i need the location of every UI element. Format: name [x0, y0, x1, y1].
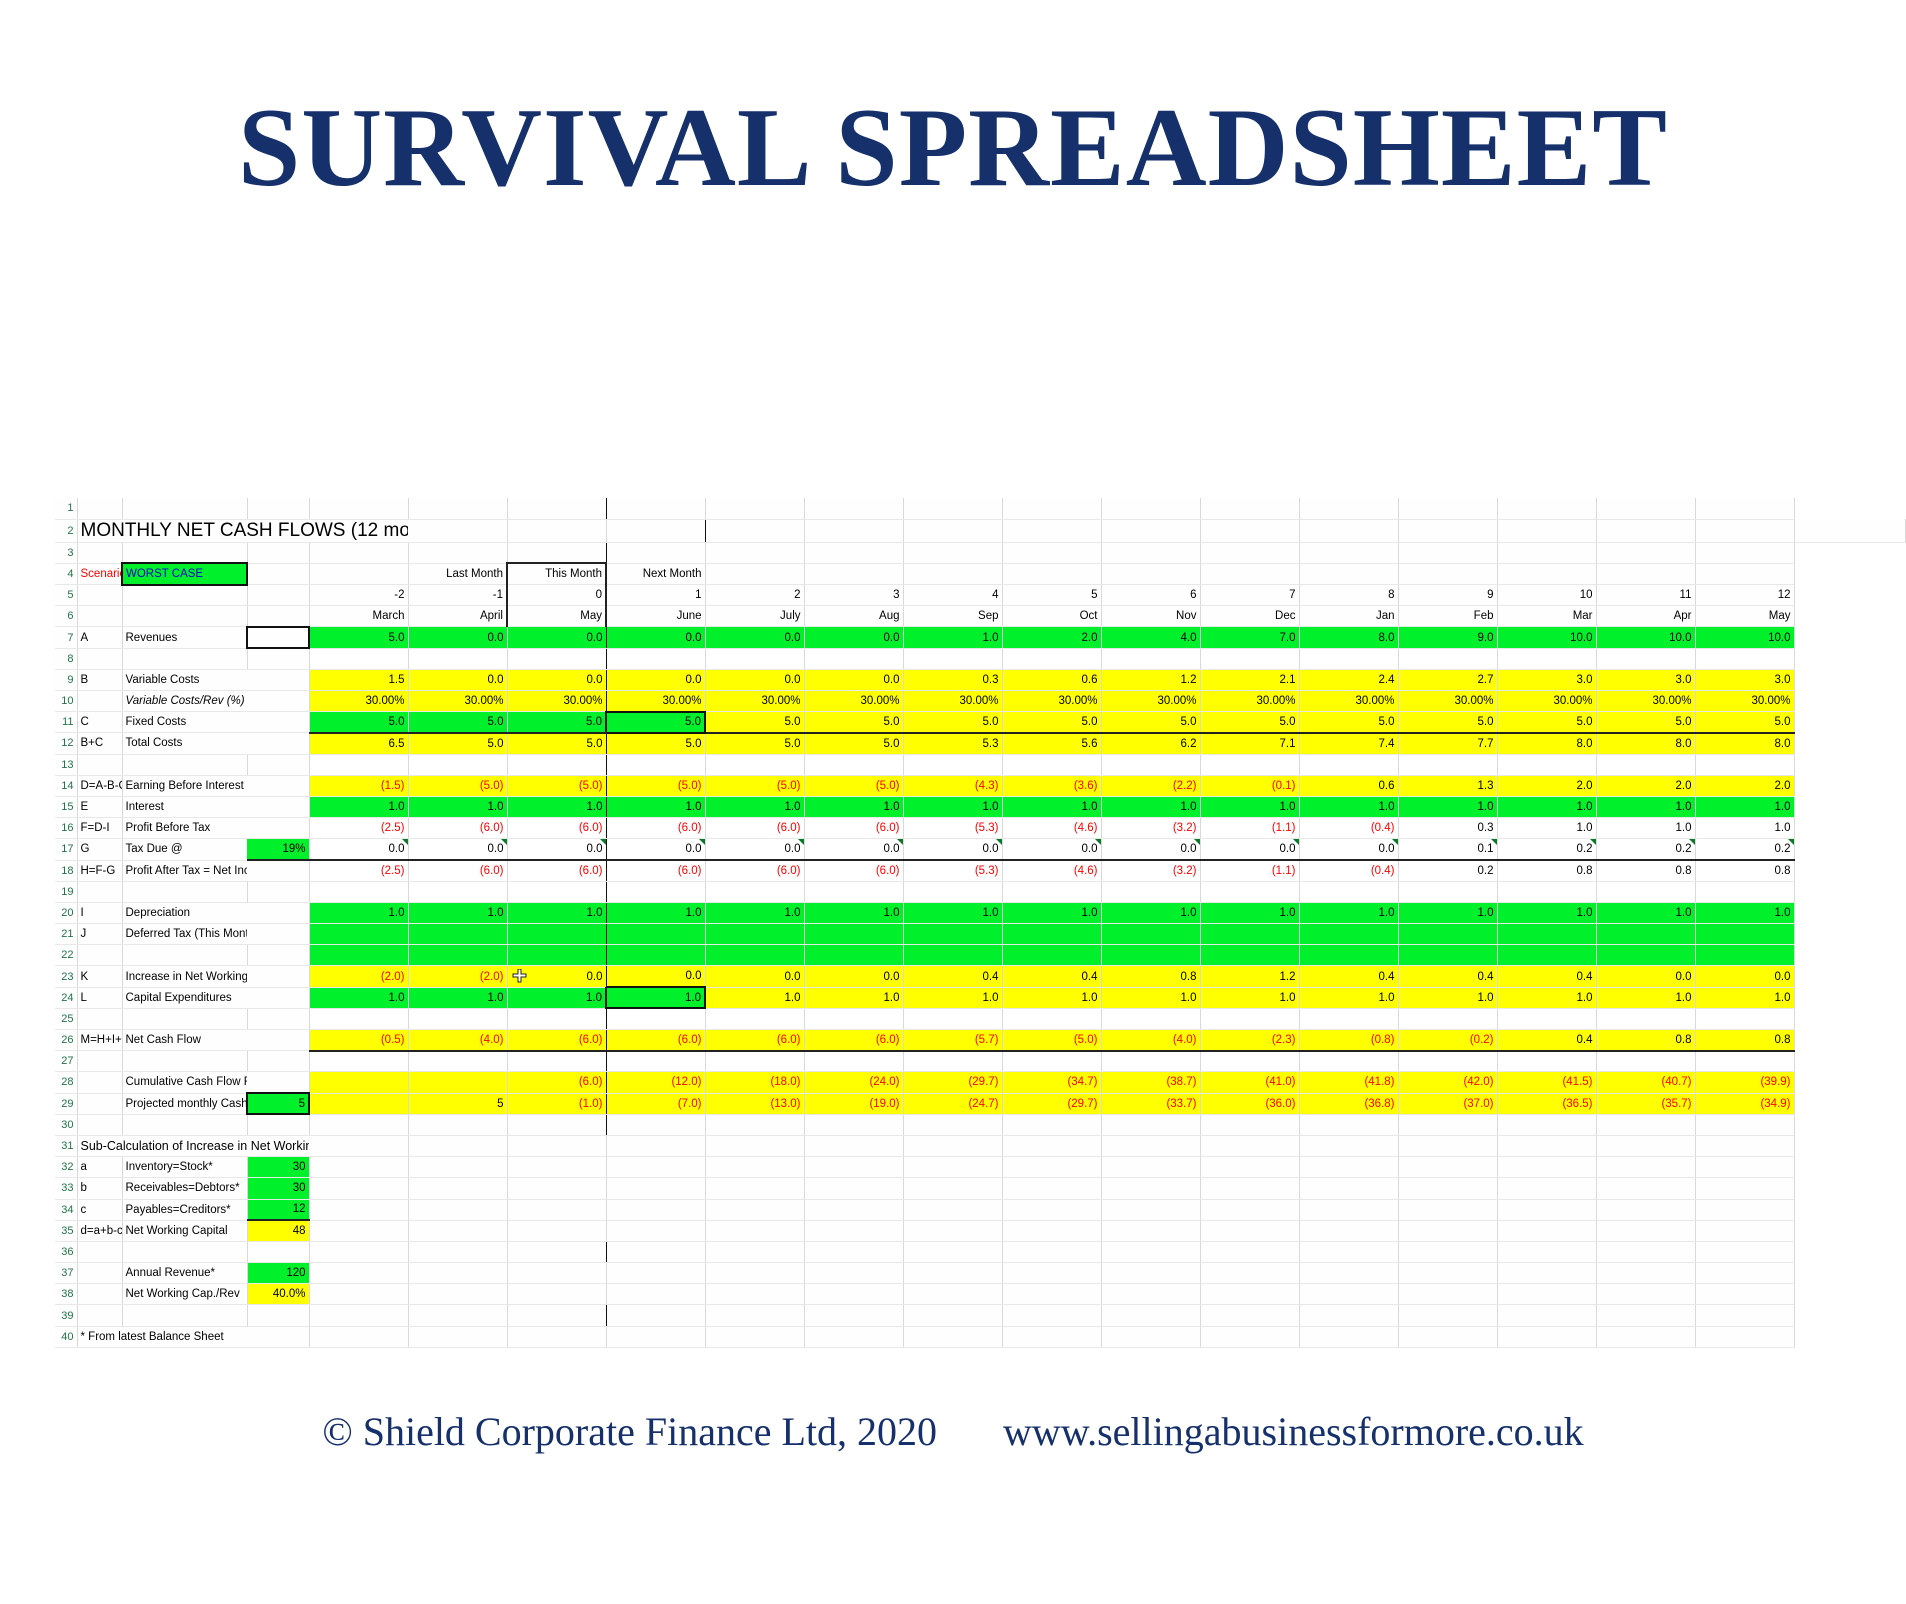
cell-r15-c3[interactable]: 1.0 [606, 796, 705, 817]
cell[interactable] [309, 1199, 408, 1220]
cell-r14-c1[interactable]: (5.0) [408, 775, 507, 796]
row-header-15[interactable]: 15 [55, 796, 77, 817]
cell[interactable] [247, 1051, 309, 1072]
cell[interactable] [507, 1284, 606, 1305]
cell[interactable] [804, 1178, 903, 1199]
cell[interactable] [77, 648, 122, 669]
row-header-13[interactable]: 13 [55, 754, 77, 775]
period-index-7[interactable]: 5 [1002, 585, 1101, 606]
table-row[interactable]: 17GTax Due @19%0.00.00.00.00.00.00.00.00… [55, 839, 1906, 860]
cell[interactable] [1299, 648, 1398, 669]
row-header-38[interactable]: 38 [55, 1284, 77, 1305]
cell[interactable] [1695, 648, 1794, 669]
cell[interactable] [1497, 1114, 1596, 1135]
cell[interactable] [1200, 1284, 1299, 1305]
cell[interactable] [77, 498, 122, 519]
sub-calc-code[interactable]: c [77, 1199, 122, 1220]
cell[interactable] [1596, 1284, 1695, 1305]
row-code[interactable]: B [77, 669, 122, 690]
cell[interactable] [903, 1135, 1002, 1156]
table-row[interactable]: 16F=D-IProfit Before Tax(2.5)(6.0)(6.0)(… [55, 818, 1906, 839]
period-tag-last-month[interactable]: Last Month [408, 563, 507, 584]
cell[interactable] [507, 1135, 606, 1156]
cell-r9-c8[interactable]: 1.2 [1101, 669, 1200, 690]
cell-r16-c2[interactable]: (6.0) [507, 818, 606, 839]
cell-r24-c13[interactable]: 1.0 [1596, 987, 1695, 1008]
cell-r10-c12[interactable]: 30.00% [1497, 691, 1596, 712]
cell[interactable] [1596, 1008, 1695, 1029]
period-month-14[interactable]: May [1695, 606, 1794, 627]
cell[interactable] [507, 519, 606, 542]
cell[interactable] [1299, 1220, 1398, 1241]
cell-r11-c14[interactable]: 5.0 [1695, 712, 1794, 733]
table-row[interactable]: 6MarchAprilMayJuneJulyAugSepOctNovDecJan… [55, 606, 1906, 627]
period-index-11[interactable]: 9 [1398, 585, 1497, 606]
cell[interactable] [1695, 1241, 1794, 1262]
cell[interactable] [122, 1305, 247, 1326]
cell-r18-c6[interactable]: (5.3) [903, 860, 1002, 881]
row-code[interactable]: K [77, 966, 122, 987]
row-header-10[interactable]: 10 [55, 691, 77, 712]
cell[interactable] [77, 754, 122, 775]
cell-r21-c11[interactable] [1398, 924, 1497, 945]
cell[interactable] [1596, 1241, 1695, 1262]
cell-r16-c7[interactable]: (4.6) [1002, 818, 1101, 839]
sub-calc-value[interactable]: 48 [247, 1220, 309, 1241]
row-code[interactable]: M=H+I+J-K-L [77, 1030, 122, 1051]
cell[interactable] [408, 498, 507, 519]
cell[interactable] [606, 1157, 705, 1178]
table-row[interactable]: 24LCapital Expenditures1.01.01.01.01.01.… [55, 987, 1906, 1008]
row-header-7[interactable]: 7 [55, 627, 77, 648]
cell[interactable] [1101, 563, 1200, 584]
row-header-5[interactable]: 5 [55, 585, 77, 606]
cell-r15-c12[interactable]: 1.0 [1497, 796, 1596, 817]
cell[interactable] [1695, 1178, 1794, 1199]
period-index-12[interactable]: 10 [1497, 585, 1596, 606]
cell-r9-c6[interactable]: 0.3 [903, 669, 1002, 690]
cell-r16-c1[interactable]: (6.0) [408, 818, 507, 839]
cell-r17-c8[interactable]: 0.0 [1101, 839, 1200, 860]
cell-r16-c3[interactable]: (6.0) [606, 818, 705, 839]
cell[interactable] [1596, 498, 1695, 519]
row-header-23[interactable]: 23 [55, 966, 77, 987]
cell[interactable] [1398, 1284, 1497, 1305]
cell[interactable] [408, 1305, 507, 1326]
table-row[interactable]: 39 [55, 1305, 1906, 1326]
cell[interactable] [1497, 1008, 1596, 1029]
cell-r28-c12[interactable]: (41.5) [1497, 1072, 1596, 1093]
cell-r17-c1[interactable]: 0.0 [408, 839, 507, 860]
cell-r7-c5[interactable]: 0.0 [804, 627, 903, 648]
cell[interactable] [1002, 542, 1101, 563]
cell[interactable] [804, 1114, 903, 1135]
cell-r21-c14[interactable] [1695, 924, 1794, 945]
table-row[interactable]: 9BVariable Costs1.50.00.00.00.00.00.30.6… [55, 669, 1906, 690]
table-row[interactable]: 36 [55, 1241, 1906, 1262]
cell-r26-c12[interactable]: 0.4 [1497, 1030, 1596, 1051]
cell-r17-c13[interactable]: 0.2 [1596, 839, 1695, 860]
cell-r17-c4[interactable]: 0.0 [705, 839, 804, 860]
cell[interactable] [247, 1008, 309, 1029]
cell[interactable] [1200, 1114, 1299, 1135]
cell[interactable] [1101, 1326, 1200, 1347]
period-index-3[interactable]: 1 [606, 585, 705, 606]
cell-r20-c11[interactable]: 1.0 [1398, 902, 1497, 923]
cell[interactable] [507, 1157, 606, 1178]
row-header-24[interactable]: 24 [55, 987, 77, 1008]
cell[interactable] [309, 1135, 408, 1156]
cell-r7-c1[interactable]: 0.0 [408, 627, 507, 648]
cell-r11-c5[interactable]: 5.0 [804, 712, 903, 733]
table-row[interactable]: 38Net Working Cap./Rev40.0% [55, 1284, 1906, 1305]
cell[interactable] [309, 1114, 408, 1135]
cell[interactable] [903, 498, 1002, 519]
sub-calc-value[interactable]: 30 [247, 1178, 309, 1199]
cell[interactable] [77, 1305, 122, 1326]
cell[interactable] [1002, 648, 1101, 669]
cell-r20-c13[interactable]: 1.0 [1596, 902, 1695, 923]
cell[interactable] [247, 860, 309, 881]
cell-r24-c1[interactable]: 1.0 [408, 987, 507, 1008]
cell[interactable] [606, 1263, 705, 1284]
cell[interactable] [1695, 1199, 1794, 1220]
row-code[interactable]: C [77, 712, 122, 733]
cell[interactable] [1695, 563, 1794, 584]
cell-r28-c10[interactable]: (41.8) [1299, 1072, 1398, 1093]
cell-r9-c14[interactable]: 3.0 [1695, 669, 1794, 690]
cell-r10-c11[interactable]: 30.00% [1398, 691, 1497, 712]
cell-r17-c6[interactable]: 0.0 [903, 839, 1002, 860]
cell[interactable] [77, 542, 122, 563]
cell-r16-c12[interactable]: 1.0 [1497, 818, 1596, 839]
cell[interactable] [1200, 542, 1299, 563]
table-row[interactable]: 23KIncrease in Net Working Capital(2.0)(… [55, 966, 1906, 987]
cell[interactable] [1398, 945, 1497, 966]
cell[interactable] [903, 1305, 1002, 1326]
table-row[interactable]: 20IDepreciation1.01.01.01.01.01.01.01.01… [55, 902, 1906, 923]
cell[interactable] [1200, 1305, 1299, 1326]
row-code[interactable]: B+C [77, 733, 122, 754]
cell-r12-c10[interactable]: 7.4 [1299, 733, 1398, 754]
cell-r29-c14[interactable]: (34.9) [1695, 1093, 1794, 1114]
cell[interactable] [77, 881, 122, 902]
cell-r20-c8[interactable]: 1.0 [1101, 902, 1200, 923]
cell[interactable] [705, 881, 804, 902]
scenario-name-input[interactable]: WORST CASE [122, 563, 247, 584]
row-header-3[interactable]: 3 [55, 542, 77, 563]
cell-r11-c7[interactable]: 5.0 [1002, 712, 1101, 733]
cell[interactable] [1002, 1326, 1101, 1347]
cell-r9-c4[interactable]: 0.0 [705, 669, 804, 690]
cell[interactable] [705, 1220, 804, 1241]
cell-r21-c4[interactable] [705, 924, 804, 945]
cell[interactable] [903, 754, 1002, 775]
cell-r9-c0[interactable]: 1.5 [309, 669, 408, 690]
cell[interactable] [804, 1241, 903, 1262]
sub-calc-value[interactable]: 40.0% [247, 1284, 309, 1305]
cell-r11-c12[interactable]: 5.0 [1497, 712, 1596, 733]
row-code[interactable]: L [77, 987, 122, 1008]
cell[interactable] [1002, 563, 1101, 584]
cell[interactable] [705, 1008, 804, 1029]
row-header-40[interactable]: 40 [55, 1326, 77, 1347]
cell[interactable] [1398, 1199, 1497, 1220]
cell[interactable] [1695, 1263, 1794, 1284]
cell-r10-c0[interactable]: 30.00% [309, 691, 408, 712]
cell-r26-c9[interactable]: (2.3) [1200, 1030, 1299, 1051]
cell-r12-c11[interactable]: 7.7 [1398, 733, 1497, 754]
cell[interactable] [606, 1220, 705, 1241]
cell[interactable] [309, 1263, 408, 1284]
row-header-4[interactable]: 4 [55, 563, 77, 584]
cell-r28-c0[interactable] [309, 1072, 408, 1093]
cell[interactable] [804, 1220, 903, 1241]
revenues-input-box[interactable] [247, 627, 309, 648]
cell-r12-c14[interactable]: 8.0 [1695, 733, 1794, 754]
cell-r16-c4[interactable]: (6.0) [705, 818, 804, 839]
cell[interactable] [903, 1263, 1002, 1284]
cell[interactable] [1695, 945, 1794, 966]
cell-r29-c10[interactable]: (36.8) [1299, 1093, 1398, 1114]
table-row[interactable]: 5-2-10123456789101112 [55, 585, 1906, 606]
table-row[interactable]: 27 [55, 1051, 1906, 1072]
cell[interactable] [247, 754, 309, 775]
cell[interactable] [705, 1051, 804, 1072]
cell-r18-c12[interactable]: 0.8 [1497, 860, 1596, 881]
cell[interactable] [1299, 1199, 1398, 1220]
cell[interactable] [309, 498, 408, 519]
cell-r24-c7[interactable]: 1.0 [1002, 987, 1101, 1008]
cell[interactable] [1200, 945, 1299, 966]
cell[interactable] [1200, 1008, 1299, 1029]
sub-calc-code[interactable] [77, 1263, 122, 1284]
cell[interactable] [705, 648, 804, 669]
cell[interactable] [606, 1326, 705, 1347]
cell-r29-c3[interactable]: (7.0) [606, 1093, 705, 1114]
cell[interactable] [1695, 1220, 1794, 1241]
cell-r12-c8[interactable]: 6.2 [1101, 733, 1200, 754]
cell[interactable] [1002, 881, 1101, 902]
cell-r28-c13[interactable]: (40.7) [1596, 1072, 1695, 1093]
cell-r14-c3[interactable]: (5.0) [606, 775, 705, 796]
cell[interactable] [1299, 1305, 1398, 1326]
spreadsheet-grid[interactable]: 12MONTHLY NET CASH FLOWS (12 months34Sce… [55, 498, 1906, 1348]
cell[interactable] [606, 498, 705, 519]
cell-r18-c8[interactable]: (3.2) [1101, 860, 1200, 881]
cell[interactable] [804, 1326, 903, 1347]
cell[interactable] [1497, 1199, 1596, 1220]
cell[interactable] [1497, 563, 1596, 584]
cell[interactable] [247, 987, 309, 1008]
cell[interactable] [1497, 881, 1596, 902]
cell[interactable] [1299, 945, 1398, 966]
cell[interactable] [309, 881, 408, 902]
cell[interactable] [606, 1051, 705, 1072]
row-header-17[interactable]: 17 [55, 839, 77, 860]
cell[interactable] [247, 606, 309, 627]
cell[interactable] [903, 542, 1002, 563]
period-index-9[interactable]: 7 [1200, 585, 1299, 606]
cell[interactable] [247, 796, 309, 817]
table-row[interactable]: 21JDeferred Tax (This Month) [55, 924, 1906, 945]
cell-r7-c11[interactable]: 9.0 [1398, 627, 1497, 648]
cell-r29-c13[interactable]: (35.7) [1596, 1093, 1695, 1114]
period-tag-next-month[interactable]: Next Month [606, 563, 705, 584]
cell-r17-c11[interactable]: 0.1 [1398, 839, 1497, 860]
cell-r12-c12[interactable]: 8.0 [1497, 733, 1596, 754]
cell[interactable] [507, 1051, 606, 1072]
cell[interactable] [408, 542, 507, 563]
cell[interactable] [1497, 1135, 1596, 1156]
cell[interactable] [247, 691, 309, 712]
period-month-13[interactable]: Apr [1596, 606, 1695, 627]
cell[interactable] [247, 1072, 309, 1093]
cell[interactable] [1596, 648, 1695, 669]
row-code[interactable]: D=A-B-C [77, 775, 122, 796]
cell[interactable] [1101, 1051, 1200, 1072]
cell[interactable] [507, 754, 606, 775]
cell[interactable] [705, 1199, 804, 1220]
cell[interactable] [903, 648, 1002, 669]
cell[interactable] [1002, 1263, 1101, 1284]
cell[interactable] [705, 1241, 804, 1262]
row-code[interactable] [77, 1093, 122, 1114]
cell[interactable] [1596, 1199, 1695, 1220]
cell-r17-c7[interactable]: 0.0 [1002, 839, 1101, 860]
cell[interactable] [1497, 945, 1596, 966]
period-index-10[interactable]: 8 [1299, 585, 1398, 606]
cell[interactable] [408, 1178, 507, 1199]
cell-r20-c5[interactable]: 1.0 [804, 902, 903, 923]
cell[interactable] [903, 519, 1002, 542]
cell-r18-c7[interactable]: (4.6) [1002, 860, 1101, 881]
row-code[interactable]: J [77, 924, 122, 945]
cell-r17-c12[interactable]: 0.2 [1497, 839, 1596, 860]
cell[interactable] [705, 1114, 804, 1135]
row-header-34[interactable]: 34 [55, 1199, 77, 1220]
cell-r28-c4[interactable]: (18.0) [705, 1072, 804, 1093]
cell[interactable] [309, 1008, 408, 1029]
sub-calc-code[interactable]: a [77, 1157, 122, 1178]
table-row[interactable]: 8 [55, 648, 1906, 669]
cell[interactable] [903, 1326, 1002, 1347]
cell[interactable] [1299, 498, 1398, 519]
sub-calc-code[interactable] [77, 1284, 122, 1305]
cell[interactable] [1200, 1241, 1299, 1262]
cell[interactable] [606, 881, 705, 902]
cell-r17-c0[interactable]: 0.0 [309, 839, 408, 860]
cell[interactable] [1398, 754, 1497, 775]
cell-r14-c7[interactable]: (3.6) [1002, 775, 1101, 796]
cell[interactable] [1497, 498, 1596, 519]
cell-r20-c14[interactable]: 1.0 [1695, 902, 1794, 923]
row-code[interactable]: I [77, 902, 122, 923]
cell[interactable] [247, 1030, 309, 1051]
table-row[interactable]: 3 [55, 542, 1906, 563]
table-row[interactable]: 7ARevenues5.00.00.00.00.00.01.02.04.07.0… [55, 627, 1906, 648]
cell[interactable] [1101, 1220, 1200, 1241]
row-header-12[interactable]: 12 [55, 733, 77, 754]
cell-r29-c12[interactable]: (36.5) [1497, 1093, 1596, 1114]
cell[interactable] [1497, 1326, 1596, 1347]
cell[interactable] [1200, 754, 1299, 775]
cell-r12-c0[interactable]: 6.5 [309, 733, 408, 754]
cell-r24-c8[interactable]: 1.0 [1101, 987, 1200, 1008]
cell[interactable] [309, 563, 408, 584]
row-header-8[interactable]: 8 [55, 648, 77, 669]
cell[interactable] [705, 563, 804, 584]
cell-r20-c9[interactable]: 1.0 [1200, 902, 1299, 923]
cell[interactable] [1596, 1051, 1695, 1072]
cell[interactable] [903, 1284, 1002, 1305]
cell[interactable] [1497, 1263, 1596, 1284]
tax-rate-input[interactable]: 19% [247, 839, 309, 860]
cell[interactable] [705, 519, 804, 542]
cell[interactable] [804, 1157, 903, 1178]
cell-r9-c1[interactable]: 0.0 [408, 669, 507, 690]
cell-r15-c5[interactable]: 1.0 [804, 796, 903, 817]
cell-r15-c8[interactable]: 1.0 [1101, 796, 1200, 817]
table-row[interactable]: 4Scenario Name:WORST CASELast MonthThis … [55, 563, 1906, 584]
cell[interactable] [804, 945, 903, 966]
cell-r9-c2[interactable]: 0.0 [507, 669, 606, 690]
cell[interactable] [1596, 1305, 1695, 1326]
cell[interactable] [1299, 1157, 1398, 1178]
table-row[interactable]: 32aInventory=Stock*30 [55, 1157, 1906, 1178]
cell-r26-c7[interactable]: (5.0) [1002, 1030, 1101, 1051]
cell-r26-c2[interactable]: (6.0) [507, 1030, 606, 1051]
cell[interactable] [408, 1008, 507, 1029]
period-month-10[interactable]: Jan [1299, 606, 1398, 627]
cell-r7-c2[interactable]: 0.0 [507, 627, 606, 648]
cell[interactable] [408, 1157, 507, 1178]
row-header-29[interactable]: 29 [55, 1093, 77, 1114]
cell-r28-c11[interactable]: (42.0) [1398, 1072, 1497, 1093]
cell-r20-c7[interactable]: 1.0 [1002, 902, 1101, 923]
cell-r15-c9[interactable]: 1.0 [1200, 796, 1299, 817]
cell-r10-c3[interactable]: 30.00% [606, 691, 705, 712]
cell[interactable] [247, 902, 309, 923]
cell-r21-c7[interactable] [1002, 924, 1101, 945]
cell[interactable] [1200, 1135, 1299, 1156]
sub-calc-value[interactable]: 30 [247, 1157, 309, 1178]
cell-r11-c4[interactable]: 5.0 [705, 712, 804, 733]
cell[interactable] [1596, 563, 1695, 584]
cell[interactable] [408, 1220, 507, 1241]
cell[interactable] [309, 1178, 408, 1199]
cell-r10-c6[interactable]: 30.00% [903, 691, 1002, 712]
cell[interactable] [1398, 1326, 1497, 1347]
cell[interactable] [247, 712, 309, 733]
cell-r28-c8[interactable]: (38.7) [1101, 1072, 1200, 1093]
table-row[interactable]: 35d=a+b-cNet Working Capital48 [55, 1220, 1906, 1241]
cell[interactable] [1101, 542, 1200, 563]
period-month-6[interactable]: Sep [903, 606, 1002, 627]
period-index-4[interactable]: 2 [705, 585, 804, 606]
period-month-5[interactable]: Aug [804, 606, 903, 627]
cell-r17-c9[interactable]: 0.0 [1200, 839, 1299, 860]
cell[interactable] [247, 585, 309, 606]
cell[interactable] [408, 1241, 507, 1262]
cell[interactable] [122, 648, 247, 669]
cell[interactable] [1695, 542, 1794, 563]
cell-r29-c4[interactable]: (13.0) [705, 1093, 804, 1114]
cell-r29-c0[interactable] [309, 1093, 408, 1114]
cell-r11-c6[interactable]: 5.0 [903, 712, 1002, 733]
cell-r23-c2[interactable]: 0.0 [507, 966, 606, 987]
cell-r7-c12[interactable]: 10.0 [1497, 627, 1596, 648]
